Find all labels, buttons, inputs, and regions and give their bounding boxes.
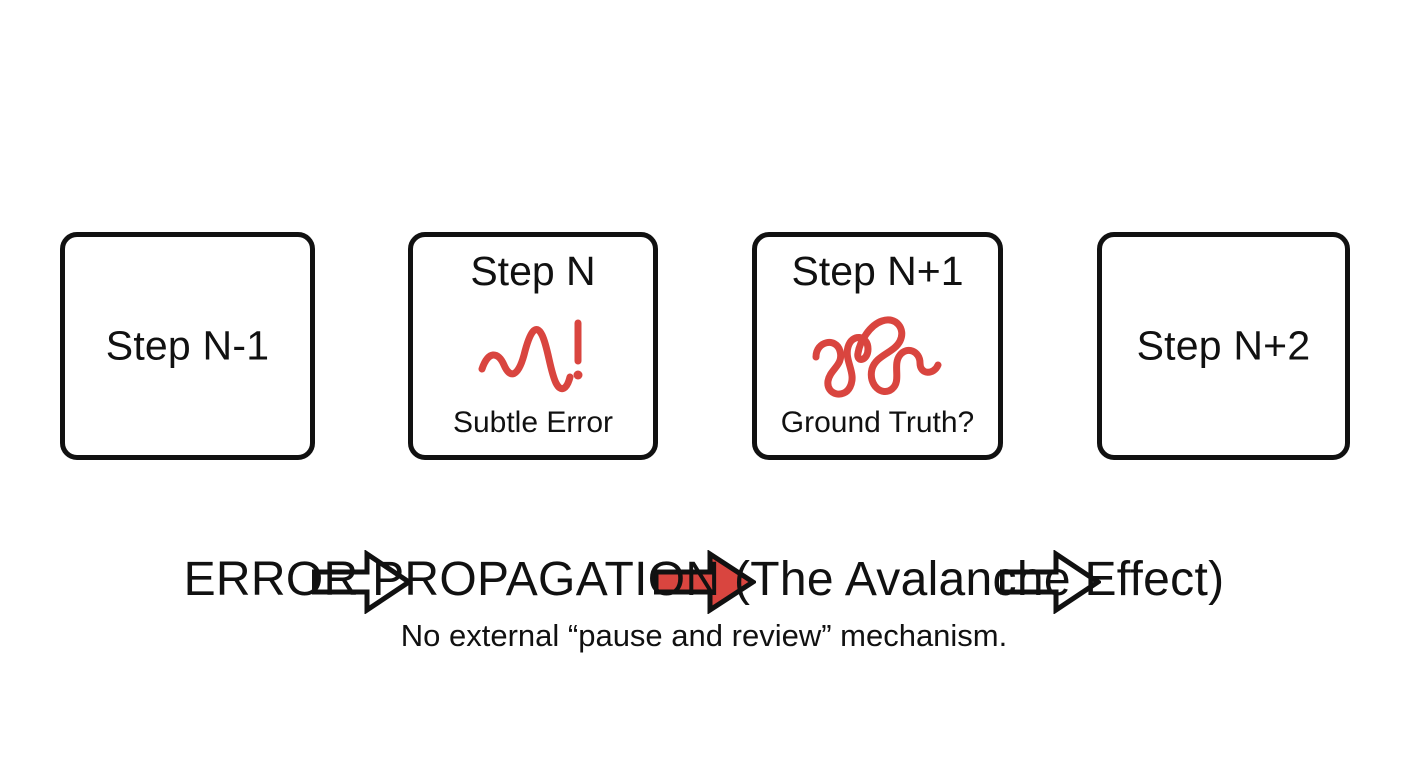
headline: ERROR PROPAGATION (The Avalanche Effect): [0, 552, 1408, 609]
diagram-canvas: Step N-1 Step N Subtle Error Step N+1: [0, 0, 1408, 768]
wave-stroke: [482, 329, 570, 388]
tangle-stroke: [816, 320, 938, 394]
step-box-title: Step N-1: [65, 323, 310, 368]
step-box-title: Step N: [413, 249, 653, 294]
step-box-step-n-plus-2: Step N+2: [1097, 232, 1350, 460]
caption-block: ERROR PROPAGATION (The Avalanche Effect)…: [0, 552, 1408, 654]
tangled-error-glyph-wrap: [757, 309, 998, 401]
step-box-title: Step N+1: [757, 249, 998, 294]
step-box-caption: Subtle Error: [413, 406, 653, 439]
red-tangled-scribble-icon: [810, 307, 946, 403]
step-box-caption: Ground Truth?: [757, 406, 998, 439]
step-box-title: Step N+2: [1102, 323, 1345, 368]
step-box-step-n: Step N Subtle Error: [408, 232, 658, 460]
exclamation-dot: [574, 371, 583, 380]
subheadline: No external “pause and review” mechanism…: [0, 617, 1408, 654]
step-box-step-n-plus-1: Step N+1 Ground Truth?: [752, 232, 1003, 460]
flow-row: Step N-1 Step N Subtle Error Step N+1: [0, 232, 1408, 462]
step-box-step-n-minus-1: Step N-1: [60, 232, 315, 460]
red-wave-exclamation-icon: [474, 311, 592, 399]
subtle-error-glyph-wrap: [413, 309, 653, 401]
